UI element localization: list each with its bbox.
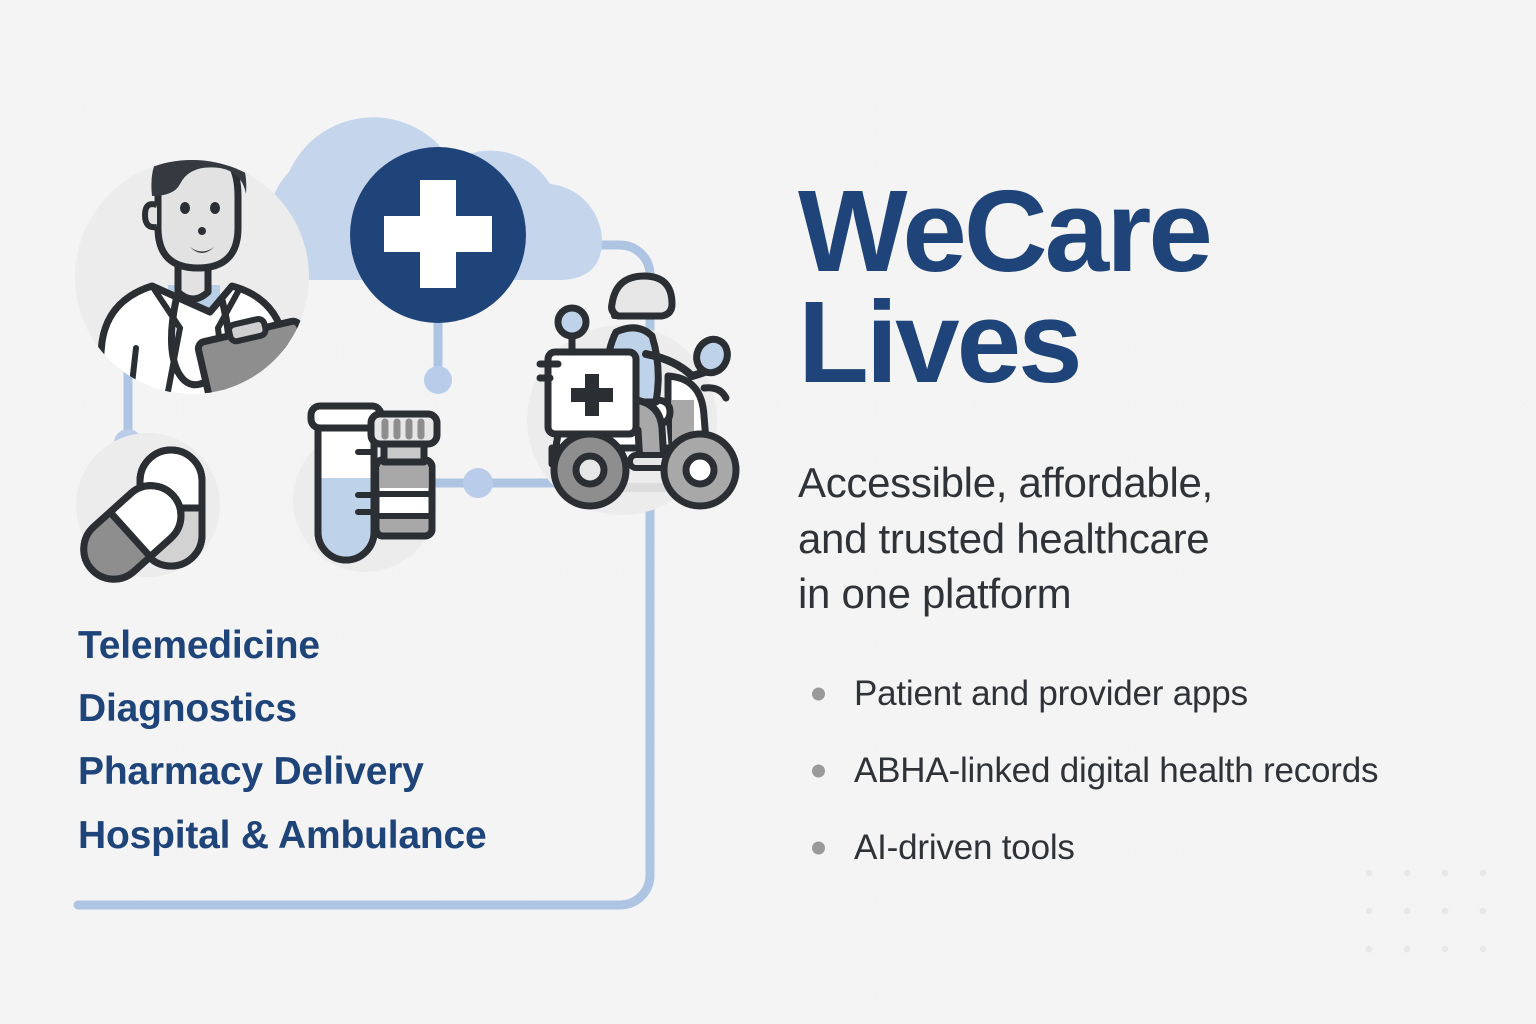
feature-list-item: ABHA-linked digital health records [798,753,1498,788]
feature-list-item: AI-driven tools [798,830,1498,865]
feature-list-item: Patient and provider apps [798,676,1498,711]
service-item-telemedicine: Telemedicine [78,614,698,677]
service-item-pharmacy-delivery: Pharmacy Delivery [78,740,698,803]
feature-label: ABHA-linked digital health records [854,751,1378,790]
connector-dot-cloud [424,366,452,394]
page-title-line-1: WeCare [798,176,1498,287]
service-list: Telemedicine Diagnostics Pharmacy Delive… [78,614,698,867]
feature-list: Patient and provider apps ABHA-linked di… [798,676,1498,865]
bullet-dot-icon [812,687,825,700]
feature-label: AI-driven tools [854,828,1075,867]
service-item-diagnostics: Diagnostics [78,677,698,740]
page-title: WeCare Lives [798,176,1498,399]
page-subtitle: Accessible, affordable, and trusted heal… [798,455,1498,623]
hero-text-column: WeCare Lives Accessible, affordable, and… [798,176,1498,907]
service-item-hospital-ambulance: Hospital & Ambulance [78,804,698,867]
page-subtitle-line-3: in one platform [798,566,1498,622]
page-subtitle-line-1: Accessible, affordable, [798,455,1498,511]
infographic-canvas: Telemedicine Diagnostics Pharmacy Delive… [0,0,1536,1024]
page-title-line-2: Lives [798,287,1498,398]
feature-label: Patient and provider apps [854,674,1248,713]
bullet-dot-icon [812,841,825,854]
test-tube-vial-icon [311,406,437,560]
cloud-medical-cross-icon [350,147,526,323]
connector-dot-delivery [463,468,493,498]
bullet-dot-icon [812,764,825,777]
page-subtitle-line-2: and trusted healthcare [798,511,1498,567]
